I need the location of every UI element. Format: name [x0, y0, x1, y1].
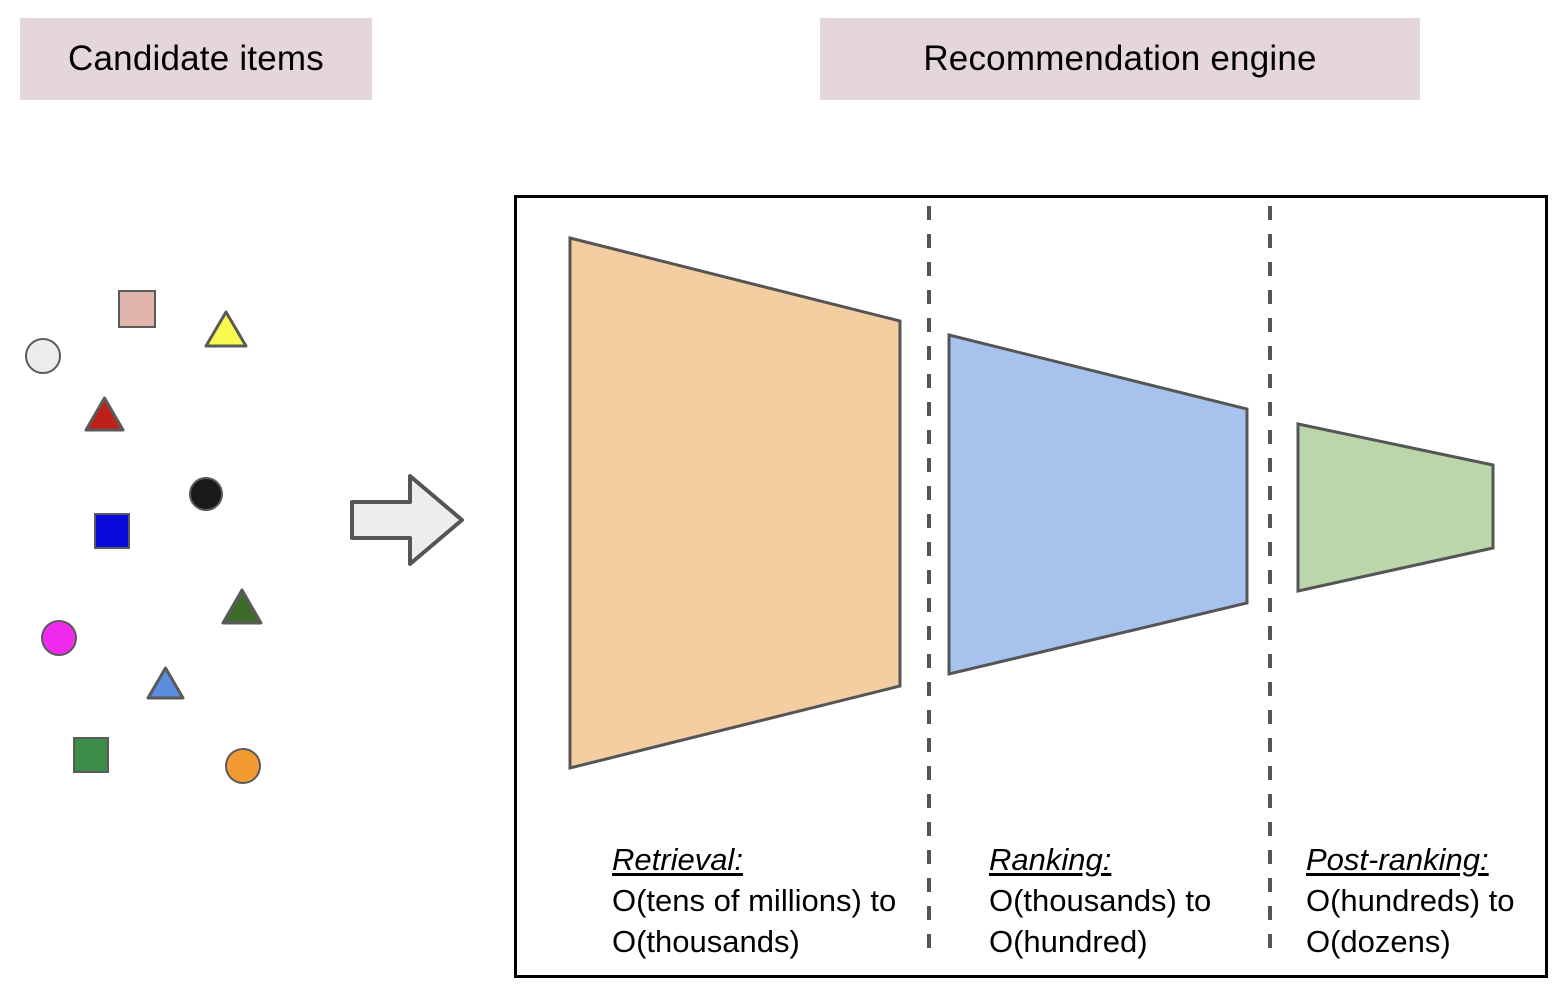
dark-green-triangle: [221, 588, 263, 625]
candidate-items-scatter: [0, 170, 340, 820]
black-circle: [189, 477, 223, 511]
cornflower-triangle: [146, 666, 185, 700]
magenta-circle: [41, 620, 77, 656]
funnel-stage-ranking: [949, 335, 1247, 674]
stage-caption-ranking: Ranking: O(thousands) to O(hundred): [989, 839, 1211, 962]
yellow-triangle: [204, 310, 248, 348]
stage-title-post-ranking: Post-ranking:: [1306, 839, 1489, 880]
light-gray-circle: [25, 338, 61, 374]
banner-candidate-items: Candidate items: [20, 18, 372, 100]
stage-title-ranking: Ranking:: [989, 839, 1111, 880]
funnel-stage-retrieval: [570, 238, 900, 768]
banner-recommendation-engine: Recommendation engine: [820, 18, 1420, 100]
dark-red-triangle: [84, 396, 125, 432]
stage-title-retrieval: Retrieval:: [612, 839, 743, 880]
stage-body-post-ranking-line1: O(hundreds) to: [1306, 880, 1515, 921]
green-square: [73, 737, 109, 773]
stage-caption-post-ranking: Post-ranking: O(hundreds) to O(dozens): [1306, 839, 1515, 962]
stage-caption-retrieval: Retrieval: O(tens of millions) to O(thou…: [612, 839, 896, 962]
funnel-stage-post-ranking: [1298, 424, 1493, 591]
stage-body-post-ranking-line2: O(dozens): [1306, 921, 1515, 962]
stage-body-retrieval-line2: O(thousands): [612, 921, 896, 962]
recommendation-engine-panel: Retrieval: O(tens of millions) to O(thou…: [514, 195, 1548, 978]
banner-candidate-items-label: Candidate items: [68, 39, 324, 79]
banner-recommendation-engine-label: Recommendation engine: [923, 39, 1316, 79]
diagram-canvas: Candidate items Recommendation engine Re…: [0, 0, 1568, 1000]
stage-body-ranking-line2: O(hundred): [989, 921, 1211, 962]
flow-arrow-icon: [348, 470, 466, 570]
pink-square: [118, 290, 156, 328]
blue-square: [94, 513, 130, 549]
stage-body-retrieval-line1: O(tens of millions) to: [612, 880, 896, 921]
stage-body-ranking-line1: O(thousands) to: [989, 880, 1211, 921]
orange-circle: [225, 748, 261, 784]
